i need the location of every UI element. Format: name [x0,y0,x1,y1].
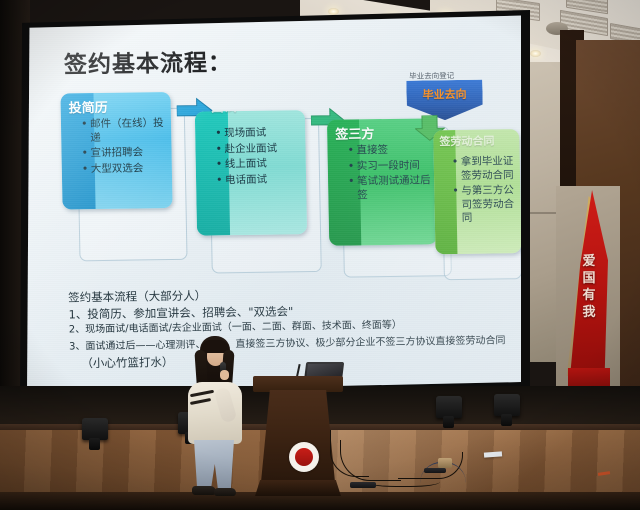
flow-step-card-1[interactable]: 投简历 邮件（在线）投递 宣讲招聘会 大型双选会 [60,92,172,210]
podium-top [253,376,343,392]
list-item: 邮件（在线）投递 [81,117,166,145]
flow-step-bullets-1: 邮件（在线）投递 宣讲招聘会 大型双选会 [81,117,167,178]
flow-step-header-2: 面试 [211,110,237,115]
flow-step-header-3: 签三方 [335,123,374,143]
flow-step-bullets-3: 直接签 实习一段时间 笔试测试通过后签 [347,143,431,204]
list-item: 直接签 [347,143,430,158]
badge-caption: 毕业去向登记 [409,70,454,82]
banner-char: 我 [582,306,595,319]
list-item: 拿到毕业证签劳动合同 [452,155,515,183]
list-item: 现场面试 [215,126,300,141]
device-icon[interactable] [350,482,376,488]
list-item: 与第三方公司签劳动合同 [452,184,516,225]
banner-char: 爱 [582,255,595,268]
podium-base [255,480,341,496]
list-item: 笔试测试通过后签 [348,174,431,202]
flow-step-header-1: 投简历 [69,97,108,117]
flow-step-bullets-4: 拿到毕业证签劳动合同 与第三方公司签劳动合同 [452,155,516,227]
list-item: 实习一段时间 [348,159,431,174]
stage-light-icon [436,396,462,418]
hand [220,370,229,380]
banner-char: 有 [582,289,595,302]
banner-characters: 爱 国 有 我 [572,202,606,372]
flow-step-bullets-2: 现场面试 赴企业面试 线上面试 电话面试 [215,126,301,189]
page-title: 签约基本流程： [64,43,233,79]
flow-step-card-2[interactable]: 面试 现场面试 赴企业面试 线上面试 电话面试 [195,110,307,236]
flow-step-header-4: 签劳动合同 [439,132,494,149]
list-item: 大型双选会 [82,162,167,177]
slide-content: 签约基本流程： 投简历 邮件（在线）投递 宣讲招聘会 大型双选会 [27,14,521,395]
flow-step-card-4[interactable]: 签劳动合同 拿到毕业证签劳动合同 与第三方公司签劳动合同 [433,129,521,254]
lecture-hall-photo: 爱 国 有 我 签约基本流程： 投简历 邮件（在线）投递 宣讲招聘会 大型双选会 [0,0,640,510]
stage-light-icon [494,394,520,416]
list-item: 电话面试 [216,173,301,188]
podium[interactable] [255,376,341,498]
shoe [214,488,236,496]
banner-char: 国 [582,272,595,285]
power-adapter-icon[interactable] [438,458,452,468]
university-crest-icon [289,442,319,472]
list-item: 宣讲招聘会 [81,146,166,161]
downlight-icon [328,8,339,15]
shoe [192,486,216,495]
stage-light-icon [82,418,108,440]
device-icon[interactable] [424,468,446,473]
podium-body [261,390,335,482]
list-item: 赴企业面试 [215,142,300,157]
badge-label: 毕业去向 [422,86,466,103]
projector-screen: 签约基本流程： 投简历 邮件（在线）投递 宣讲招聘会 大型双选会 [27,14,521,395]
jeans [194,440,234,490]
list-item: 线上面试 [216,157,301,172]
presenter [186,336,244,500]
downlight-icon [530,50,541,57]
slide-body-text: 签约基本流程（大部分人） 1、投简历、参加宣讲会、招聘会、"双选会" 2、现场面… [68,283,499,371]
